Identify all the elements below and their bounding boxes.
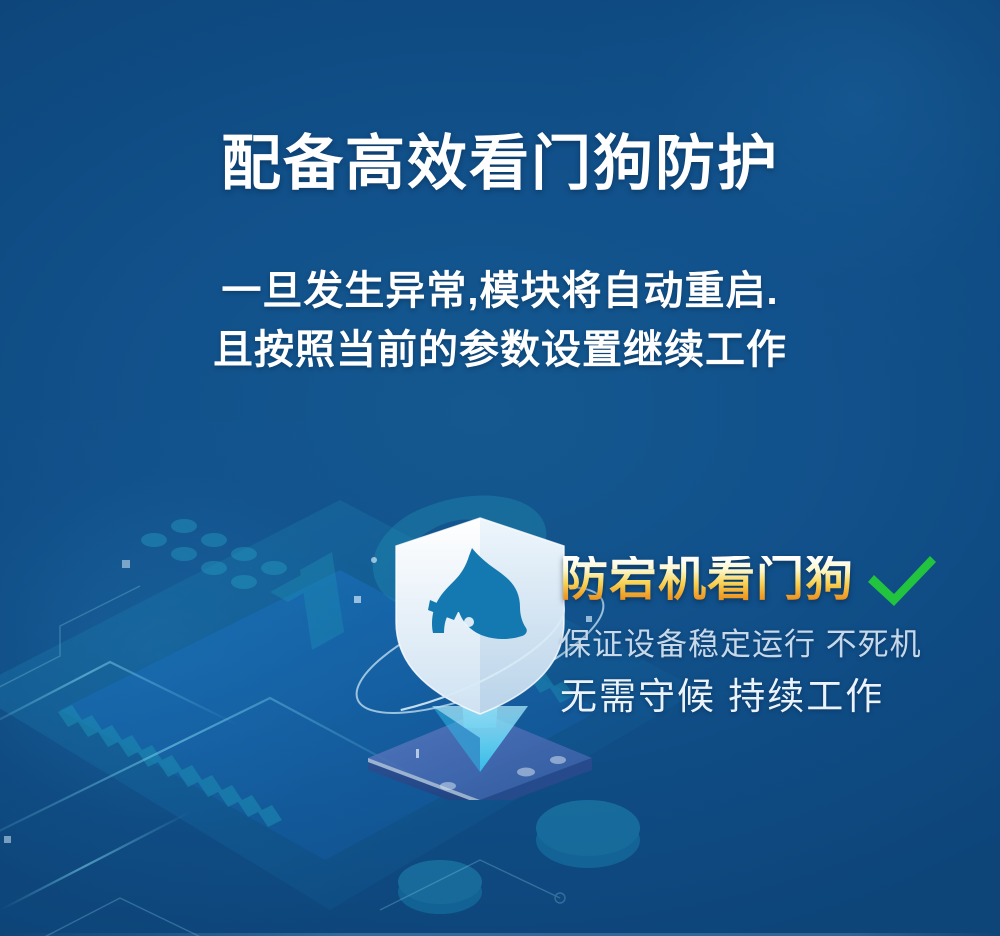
shield-dog-icon	[396, 518, 564, 714]
feature-title-row: 防宕机看门狗	[560, 548, 980, 612]
subheadline-block: 一旦发生异常,模块将自动重启. 且按照当前的参数设置继续工作	[0, 262, 1000, 380]
feature-sub-line-1: 保证设备稳定运行 不死机	[560, 626, 980, 665]
subheadline-line-1: 一旦发生异常,模块将自动重启.	[0, 262, 1000, 321]
feature-sub-line-2: 无需守候 持续工作	[560, 675, 980, 719]
check-icon	[864, 550, 940, 610]
headline-block: 配备高效看门狗防护	[0, 132, 1000, 195]
subheadline-line-2: 且按照当前的参数设置继续工作	[0, 321, 1000, 380]
page-title: 配备高效看门狗防护	[0, 132, 1000, 195]
poster-canvas: 配备高效看门狗防护 一旦发生异常,模块将自动重启. 且按照当前的参数设置继续工作	[0, 0, 1000, 936]
feature-title: 防宕机看门狗	[560, 556, 854, 604]
feature-caption-block: 防宕机看门狗 保证设备稳定运行 不死机 无需守候 持续工作	[560, 548, 980, 719]
